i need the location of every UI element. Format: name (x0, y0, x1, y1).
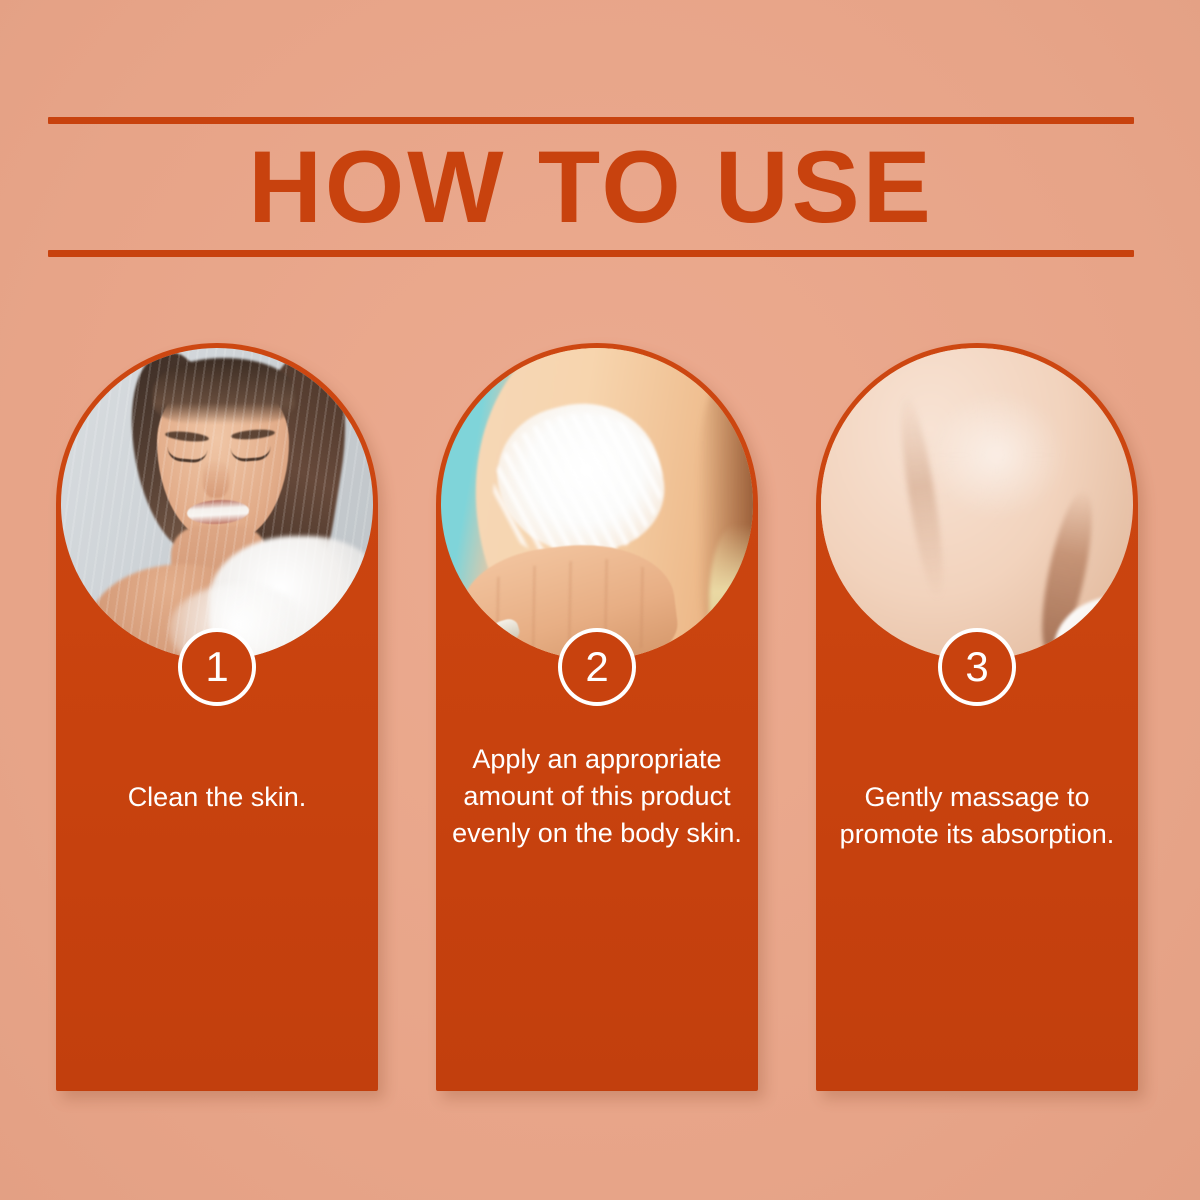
step-number-badge-1: 1 (178, 628, 256, 706)
step-caption-2: Apply an appropriate amount of this prod… (450, 741, 744, 852)
step-card-1: 1 Clean the skin. (56, 343, 378, 1091)
header: HOW TO USE (48, 112, 1134, 262)
step-1-photo (61, 348, 373, 660)
title-top-rule (48, 117, 1134, 124)
step-number-badge-2: 2 (558, 628, 636, 706)
step-caption-3: Gently massage to promote its absorption… (830, 779, 1124, 853)
step-number-badge-3: 3 (938, 628, 1016, 706)
steps-row: 1 Clean the skin. 2 Apply an approp (0, 343, 1200, 1103)
step-2-photo (441, 348, 753, 660)
how-to-use-poster: HOW TO USE (0, 0, 1200, 1200)
step-card-3: 3 Gently massage to promote its absorpti… (816, 343, 1138, 1091)
page-title: HOW TO USE (48, 128, 1134, 246)
step-caption-1: Clean the skin. (70, 779, 364, 816)
title-bottom-rule (48, 250, 1134, 257)
step-card-2: 2 Apply an appropriate amount of this pr… (436, 343, 758, 1091)
step-3-photo (821, 348, 1133, 660)
